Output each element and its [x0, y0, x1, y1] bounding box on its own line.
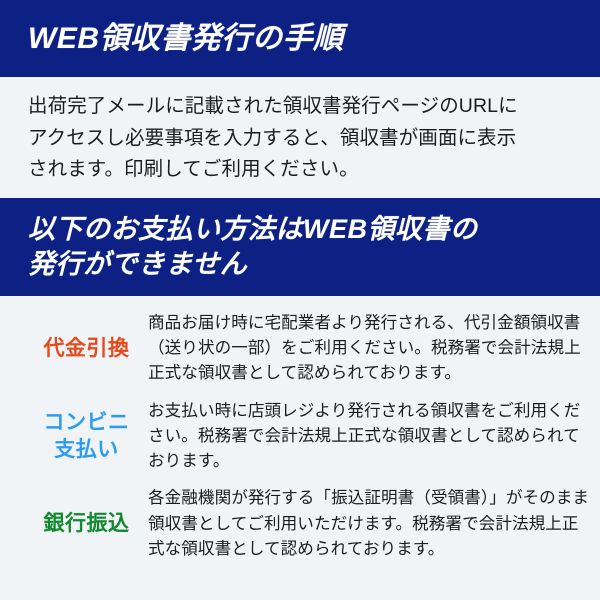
receipt-info-page: WEB領収書発行の手順 出荷完了メールに記載された領収書発行ページのURLに ア… [0, 0, 600, 600]
payment-method-description-convenience-store: お支払い時に店頭レジより発行される領収書をご利用くだ さい。税務署で会計法規上正… [148, 398, 590, 474]
notice-heading-line-2: 発行ができません [28, 247, 478, 282]
payment-method-label-bank-transfer: 銀行振込 [25, 508, 148, 537]
page-title: WEB領収書発行の手順 [0, 21, 344, 56]
description-line-3: おります。 [148, 448, 590, 473]
intro-line-3: されます。印刷してご利用ください。 [28, 154, 518, 186]
payment-method-row-convenience-store: コンビニ 支払い お支払い時に店頭レジより発行される領収書をご利用くだ さい。税… [0, 398, 600, 474]
description-line-3: 正式な領収書として認められております。 [148, 360, 590, 385]
description-line-1: お支払い時に店頭レジより発行される領収書をご利用くだ [148, 398, 590, 423]
payment-method-description-bank-transfer: 各金融機関が発行する「振込証明書（受領書）」がそのまま 領収書としてご利用いただ… [148, 485, 590, 561]
notice-heading: 以下のお支払い方法はWEB領収書の 発行ができません [0, 212, 478, 281]
payment-method-label-convenience-store: コンビニ 支払い [25, 407, 148, 464]
page-title-line: WEB領収書発行の手順 [28, 21, 344, 56]
payment-method-label-cod: 代金引換 [25, 333, 148, 362]
payment-method-label-line-2: 支払い [25, 436, 148, 463]
description-line-1: 各金融機関が発行する「振込証明書（受領書）」がそのまま [148, 485, 590, 510]
description-line-2: さい。税務署で会計法規上正式な領収書として認められて [148, 423, 590, 448]
intro-line-1: 出荷完了メールに記載された領収書発行ページのURLに [28, 91, 518, 123]
intro-section: 出荷完了メールに記載された領収書発行ページのURLに アクセスし必要事項を入力す… [0, 77, 600, 198]
payment-method-label-line: 代金引換 [25, 335, 148, 362]
payment-method-row-cod: 代金引換 商品お届け時に宅配業者より発行される、代引金額領収書 （送り状の一部）… [0, 310, 600, 386]
description-line-3: 式な領収書として認められております。 [148, 536, 590, 561]
intro-line-2: アクセスし必要事項を入力すると、領収書が画面に表示 [28, 123, 518, 155]
payment-method-description-cod: 商品お届け時に宅配業者より発行される、代引金額領収書 （送り状の一部）をご利用く… [148, 310, 590, 386]
payment-method-row-bank-transfer: 銀行振込 各金融機関が発行する「振込証明書（受領書）」がそのまま 領収書としてご… [0, 485, 600, 561]
notice-banner: 以下のお支払い方法はWEB領収書の 発行ができません [0, 198, 600, 296]
description-line-1: 商品お届け時に宅配業者より発行される、代引金額領収書 [148, 310, 590, 335]
description-line-2: （送り状の一部）をご利用ください。税務署で会計法規上 [148, 335, 590, 360]
payment-method-label-line: 銀行振込 [25, 510, 148, 537]
payment-method-label-line-1: コンビニ [25, 409, 148, 436]
notice-heading-line-1: 以下のお支払い方法はWEB領収書の [28, 212, 478, 247]
intro-paragraph: 出荷完了メールに記載された領収書発行ページのURLに アクセスし必要事項を入力す… [28, 91, 518, 186]
payment-method-list: 代金引換 商品お届け時に宅配業者より発行される、代引金額領収書 （送り状の一部）… [0, 296, 600, 600]
title-banner: WEB領収書発行の手順 [0, 0, 600, 77]
description-line-2: 領収書としてご利用いただけます。税務署で会計法規上正 [148, 511, 590, 536]
